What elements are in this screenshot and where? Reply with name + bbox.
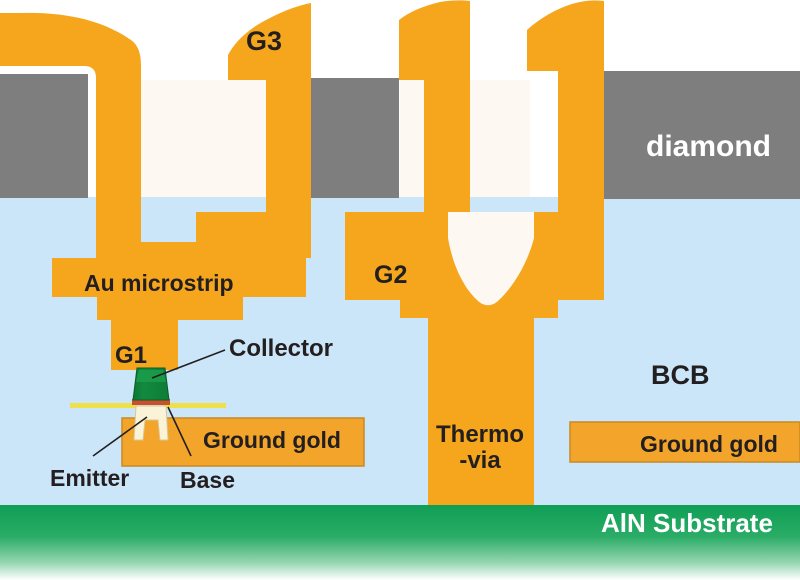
cross-section-diagram [0,0,800,580]
collector-block-highlight [136,370,166,382]
diamond-block-right [578,71,800,199]
diamond-block-left [0,74,88,198]
gold-shoulder-right [534,252,604,300]
ground-gold-bar-right [570,422,800,462]
figure-canvas: G3 diamond Au microstrip G2 G1 Collector… [0,0,800,580]
base-metal-right [164,403,226,408]
cream-void-left [140,80,270,210]
aln-substrate [0,505,800,580]
base-metal-left [70,403,136,408]
